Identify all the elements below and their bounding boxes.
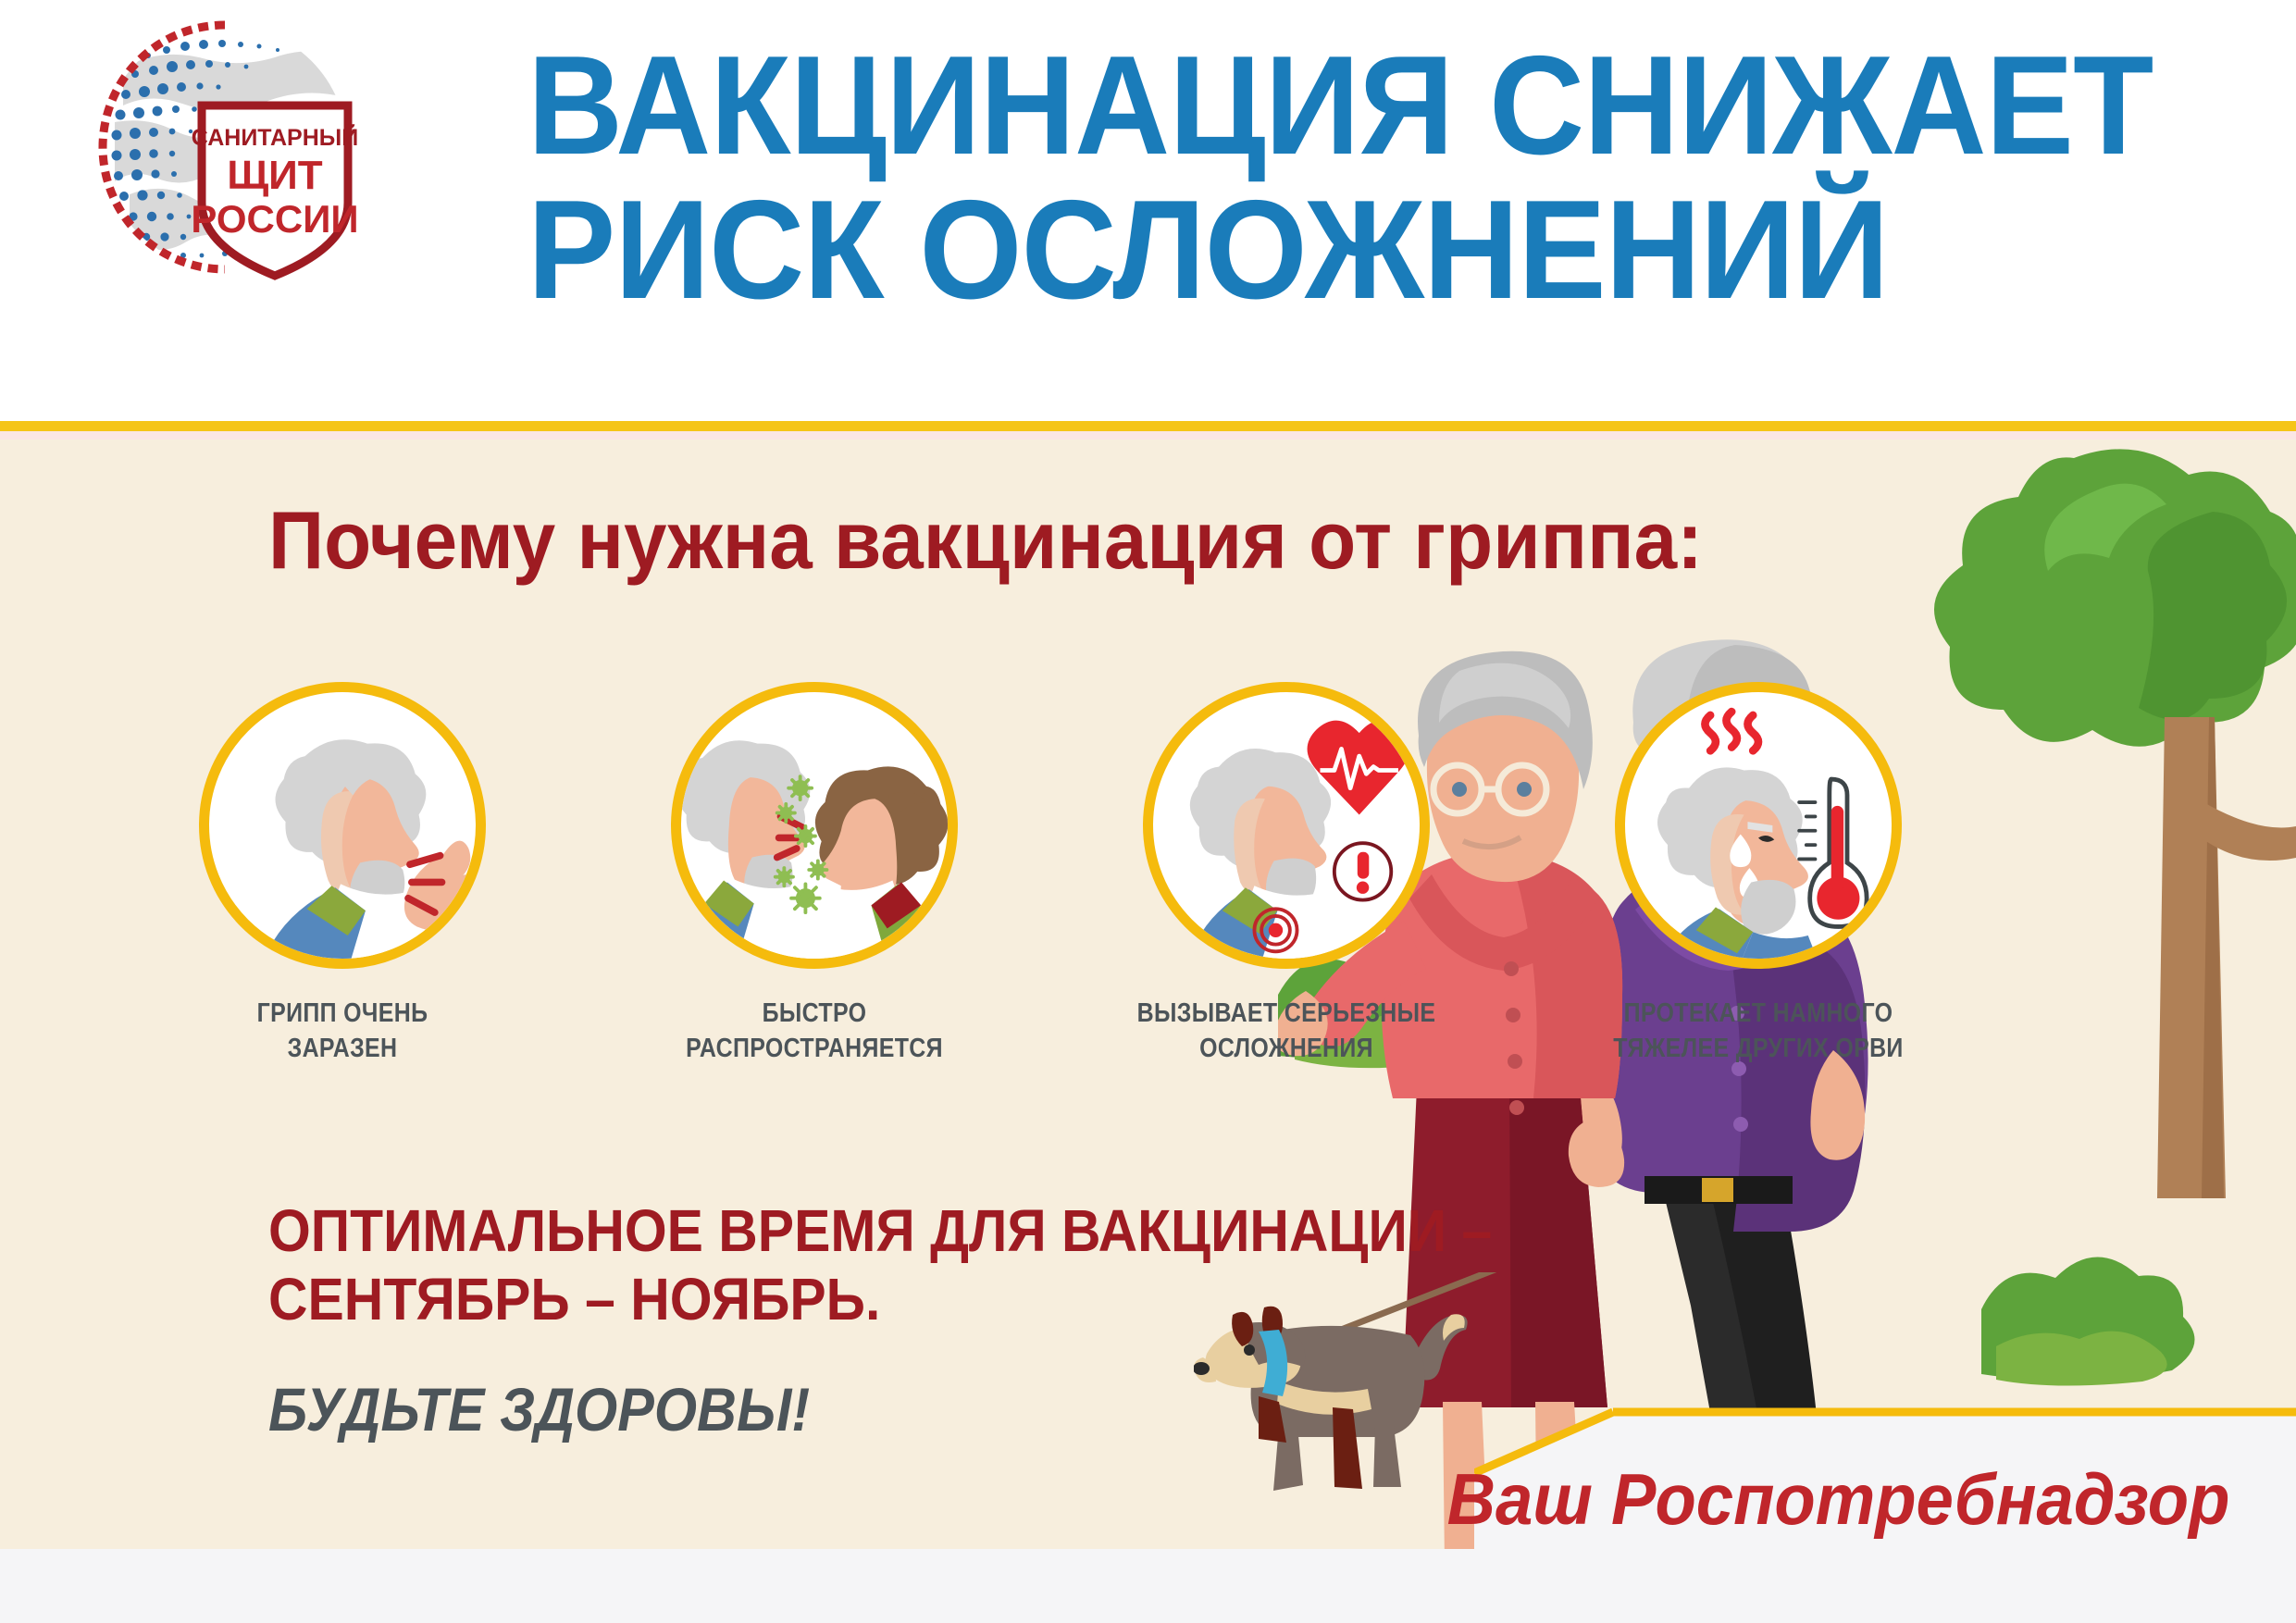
poster-root: САНИТАРНЫЙ ЩИТ РОССИИ ВАКЦИНАЦИЯ СНИЖАЕТ… xyxy=(0,0,2296,1623)
reason-label-contagious: ГРИПП ОЧЕНЬ ЗАРАЗЕН xyxy=(152,997,534,1066)
reason-item-contagious: ГРИПП ОЧЕНЬ ЗАРАЗЕН xyxy=(120,682,565,1066)
reason-item-severity: ПРОТЕКАЕТ НАМНОГО ТЯЖЕЛЕЕ ДРУГИХ ОРВИ xyxy=(1536,682,1980,1066)
logo-text-line2: ЩИТ xyxy=(227,153,322,198)
tree-trunk xyxy=(2157,717,2296,1198)
reasons-row: ГРИПП ОЧЕНЬ ЗАРАЗЕН xyxy=(120,682,1980,1061)
tree-foliage xyxy=(1934,449,2296,746)
heart-complication-warning-icon xyxy=(1143,682,1430,969)
reason-item-complications: ВЫЗЫВАЕТ СЕРЬЕЗНЫЕ ОСЛОЖНЕНИЯ xyxy=(1064,682,1508,1066)
chest-pain-rings-icon xyxy=(1254,909,1297,951)
header-divider-yellow xyxy=(0,421,2296,431)
title-line-1: ВАКЦИНАЦИЯ СНИЖАЕТ xyxy=(527,39,2172,174)
logo-text-line1: САНИТАРНЫЙ xyxy=(192,123,358,151)
reason-label-spreads: БЫСТРО РАСПРОСТРАНЯЕТСЯ xyxy=(624,997,1006,1066)
sanitary-shield-of-russia-logo: САНИТАРНЫЙ ЩИТ РОССИИ xyxy=(81,13,368,281)
fever-thermometer-icon xyxy=(1615,682,1902,969)
thermometer-icon xyxy=(1799,779,1867,926)
header-divider-pink xyxy=(0,431,2296,440)
footer-strip xyxy=(0,1549,1481,1623)
rospotrebnadzor-signature: Ваш Роспотребнадзор xyxy=(1446,1457,2229,1542)
reason-item-spreads: БЫСТРО РАСПРОСТРАНЯЕТСЯ xyxy=(592,682,1036,1066)
poster-header: САНИТАРНЫЙ ЩИТ РОССИИ ВАКЦИНАЦИЯ СНИЖАЕТ… xyxy=(0,0,2296,421)
poster-body: Почему нужна вакцинация от гриппа: xyxy=(0,440,2296,1623)
title-line-2: РИСК ОСЛОЖНЕНИЙ xyxy=(527,183,2172,318)
warning-exclamation-icon xyxy=(1334,843,1391,899)
health-wish-text: БУДЬТЕ ЗДОРОВЫ! xyxy=(268,1374,810,1444)
heat-waves-icon xyxy=(1705,712,1758,750)
virus-transmission-between-people-icon xyxy=(671,682,958,969)
elderly-man-coughing-icon xyxy=(199,682,486,969)
callout-line-1: ОПТИМАЛЬНОЕ ВРЕМЯ ДЛЯ ВАКЦИНАЦИИ – xyxy=(268,1196,1492,1265)
reason-label-complications: ВЫЗЫВАЕТ СЕРЬЕЗНЫЕ ОСЛОЖНЕНИЯ xyxy=(1096,997,1478,1066)
body-subheading: Почему нужна вакцинация от гриппа: xyxy=(268,493,1703,588)
poster-title: ВАКЦИНАЦИЯ СНИЖАЕТ РИСК ОСЛОЖНЕНИЙ xyxy=(527,20,2277,409)
reason-label-severity: ПРОТЕКАЕТ НАМНОГО ТЯЖЕЛЕЕ ДРУГИХ ОРВИ xyxy=(1568,997,1950,1066)
logo-text-line3: РОССИИ xyxy=(191,197,358,241)
